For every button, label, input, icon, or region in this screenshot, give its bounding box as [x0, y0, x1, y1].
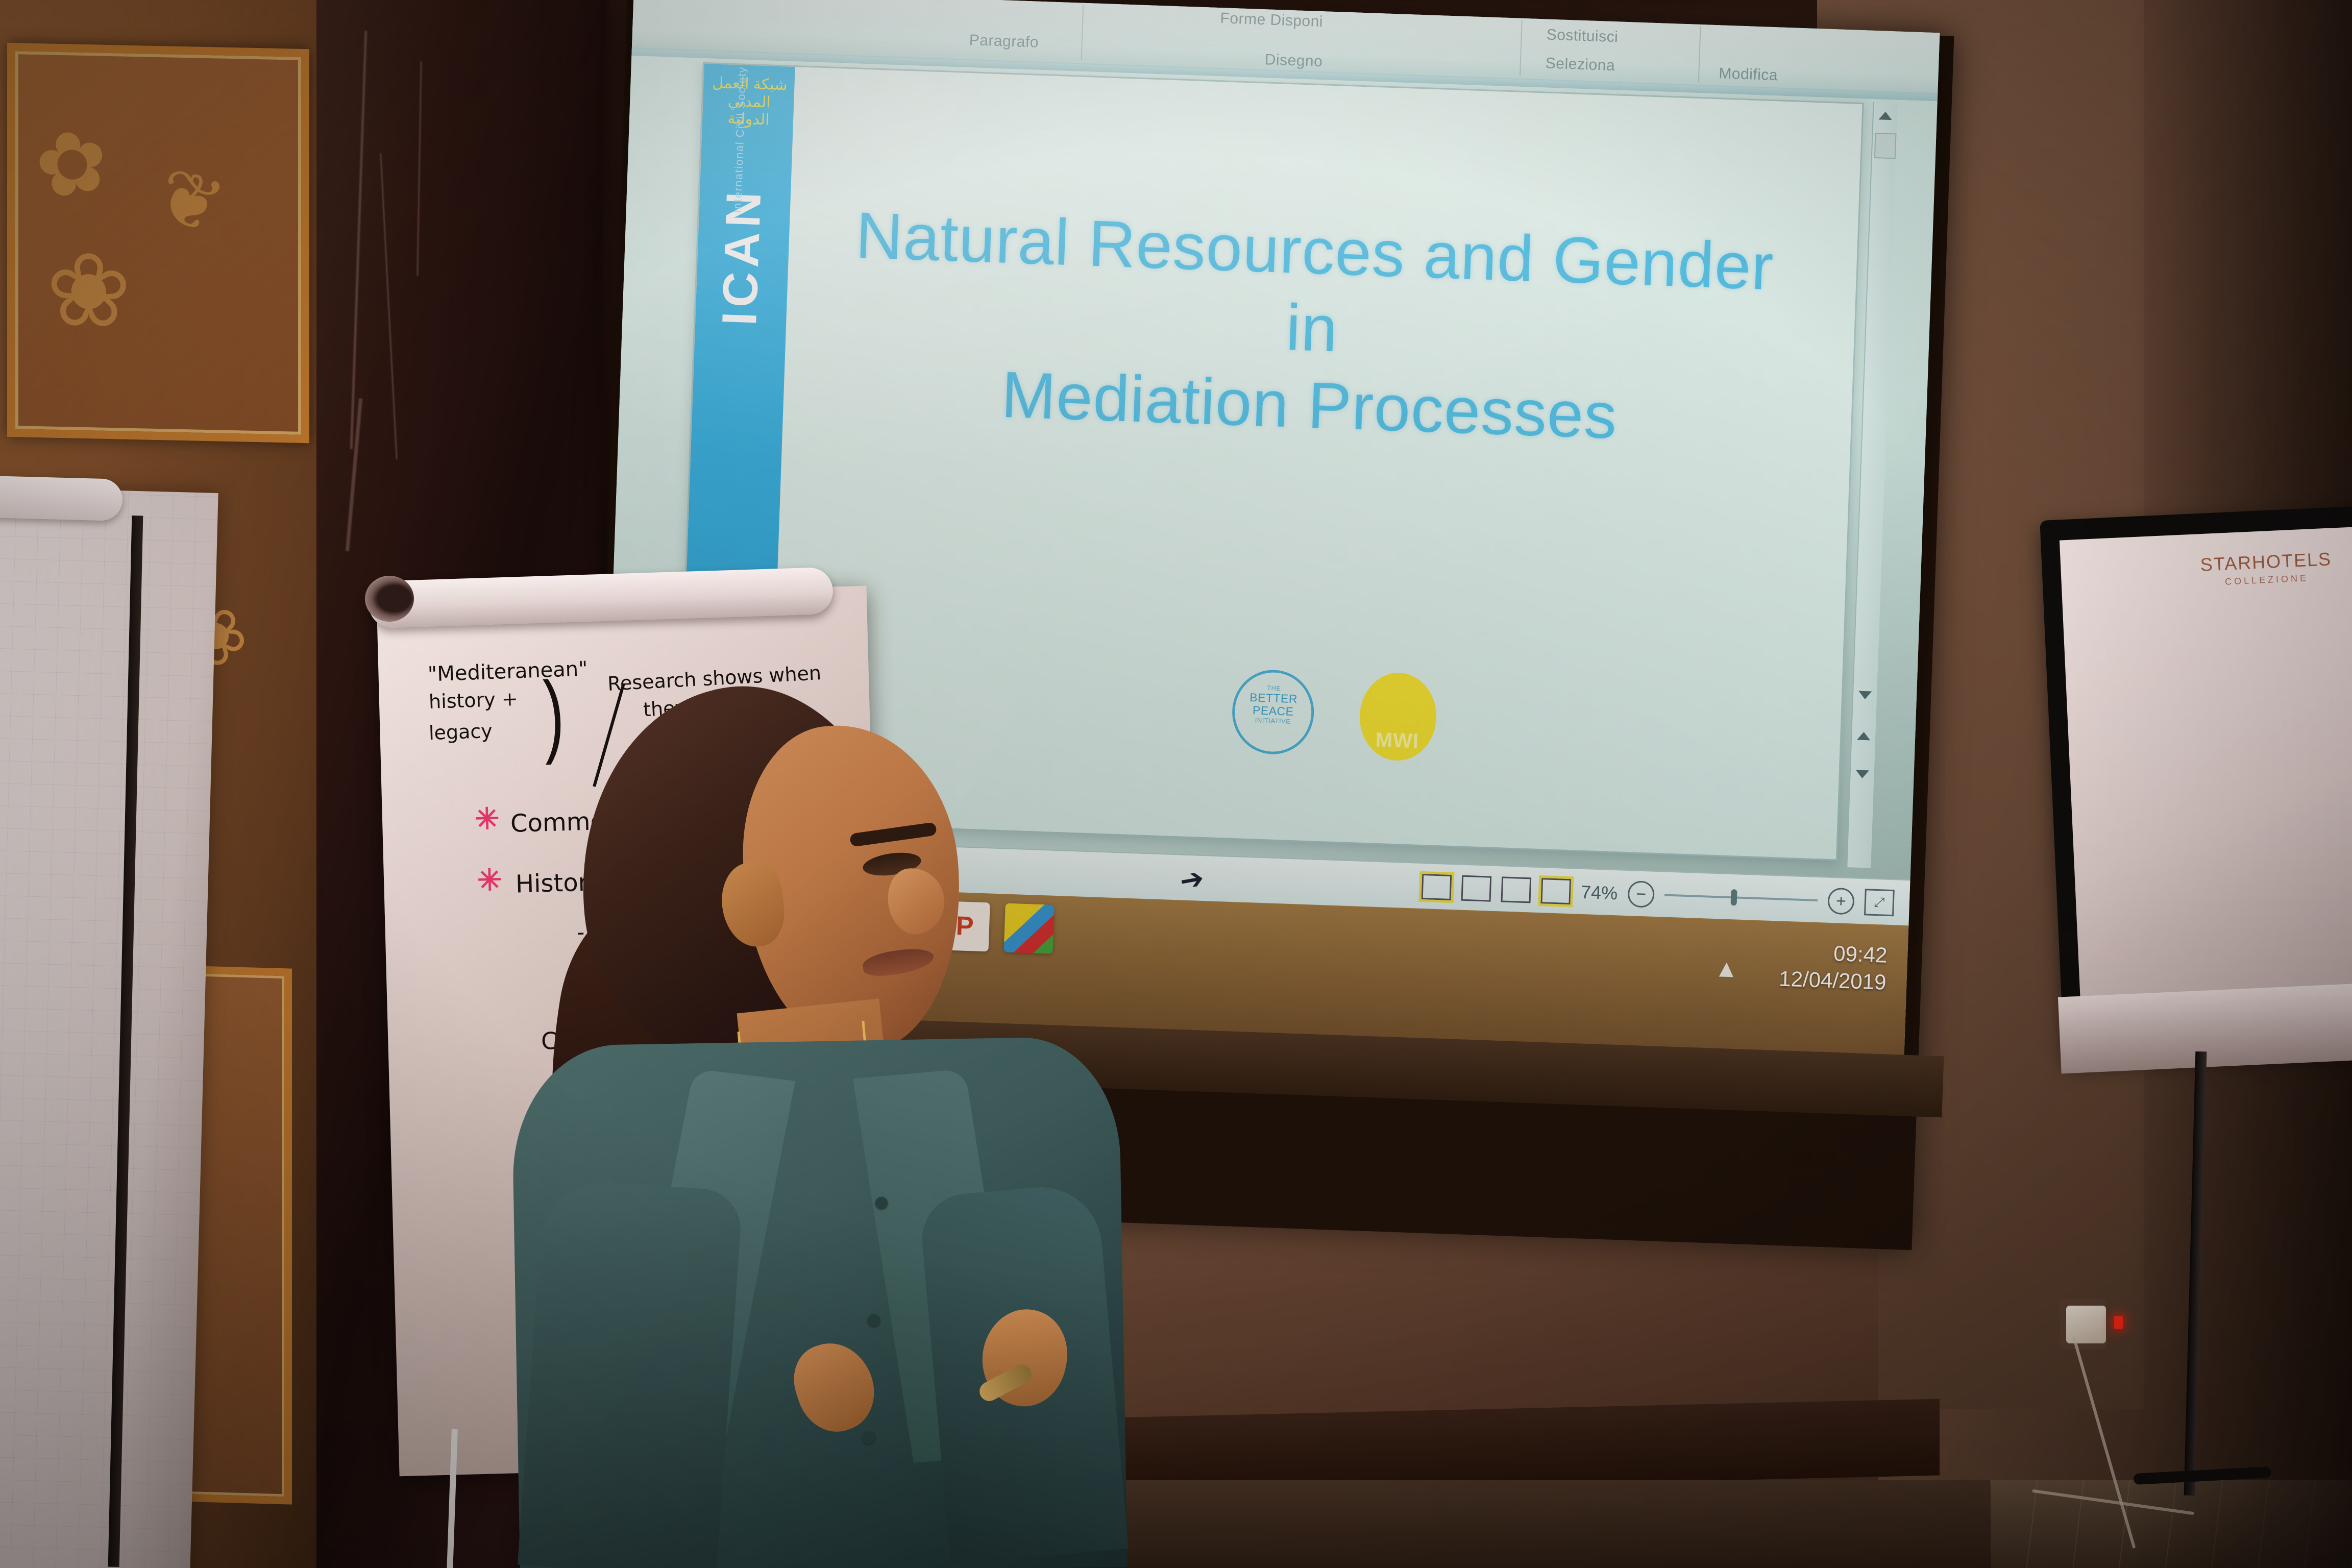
zoom-slider[interactable] [1664, 894, 1818, 901]
flipchart-sub-item-website: - website [597, 964, 695, 991]
flower-basket-ornament-icon: ❀ [46, 230, 132, 351]
fit-slide-to-window-button[interactable]: ⤢ [1864, 889, 1895, 916]
ribbon-group-forme-disponi[interactable]: Forme Disponi [1220, 10, 1324, 31]
ribbon-group-paragrafo[interactable]: Paragrafo [969, 32, 1039, 52]
left-flipchart-rolled-sheet [0, 475, 123, 521]
flipchart-quote-title: "Mediteranean" [427, 656, 588, 688]
flipchart-bullet-2: History of MWI [515, 865, 695, 898]
status-divider [898, 856, 900, 880]
ribbon-divider [1698, 27, 1701, 82]
slide-title-line-2: Mediation Processes [1000, 358, 1619, 453]
slide-logo-row: THE BETTER PEACE INITIATIVE MWI [1231, 665, 1540, 772]
zoom-in-button[interactable]: + [1827, 888, 1855, 915]
mwi-logo: MWI [1358, 672, 1438, 762]
paint-icon[interactable] [1003, 903, 1054, 953]
powerpoint-icon[interactable]: P [940, 901, 990, 951]
view-normal-button[interactable] [1422, 874, 1452, 900]
system-tray-clock[interactable]: 09:42 12/04/2019 [1778, 939, 1888, 996]
next-slide-icon[interactable] [1855, 770, 1869, 778]
scroll-ornament-icon: ❦ [146, 149, 234, 254]
mwi-label: MWI [1375, 729, 1419, 753]
starhotels-logo: STARHOTELS COLLEZIONE [2199, 548, 2334, 589]
ribbon-group-sostituisci[interactable]: Sostituisci [1546, 26, 1619, 46]
flipchart-brace-mark: ) [542, 661, 566, 767]
clock-time: 09:42 [1779, 939, 1888, 969]
scrollbar-thumb[interactable] [1874, 133, 1897, 159]
ribbon-group-modifica[interactable]: Modifica [1719, 65, 1778, 84]
flipchart-research-line-3: we [663, 725, 692, 749]
bpi-line-3: INITIATIVE [1234, 716, 1311, 726]
flipchart-star-bullet-icon: ✳ [477, 862, 502, 897]
zoom-out-button[interactable]: − [1627, 880, 1655, 908]
flipchart-star-bullet-icon: ✳ [474, 801, 500, 836]
ribbon-divider [1081, 5, 1084, 60]
clock-date: 12/04/2019 [1778, 965, 1886, 996]
flipchart-bullet-1: Common message [510, 803, 739, 838]
slide-title-line-1: Natural Resources and Gender in [854, 199, 1775, 366]
right-flipchart-paper [2060, 527, 2352, 999]
power-adapter [2066, 1306, 2106, 1343]
word-icon[interactable]: W [875, 899, 926, 949]
gilded-frame-upper: ✿ ❦ ❀ ✿ ❀ [7, 43, 309, 443]
slide-background: Natural Resources and Gender in Mediatio… [769, 67, 1862, 859]
network-tray-icon[interactable]: ▲ [1714, 954, 1739, 984]
grid-paper-texture [0, 487, 218, 1568]
scroll-up-arrow-icon[interactable] [1878, 111, 1892, 120]
screenshot-root: ✿ ❦ ❀ ✿ ❀ ❀ ✿ Paragrafo Forme Disponi Di… [0, 0, 2352, 1568]
flipchart-sub-item-slides: - slides [576, 918, 652, 945]
scroll-down-arrow-icon[interactable] [1858, 691, 1872, 700]
flipchart-quote-sub-2: legacy [428, 720, 493, 744]
previous-slide-icon[interactable] [1857, 732, 1871, 741]
ribbon-group-seleziona[interactable]: Seleziona [1545, 55, 1615, 75]
leaf-ornament-icon: ✿ [26, 108, 118, 220]
view-slideshow-button[interactable] [1540, 878, 1571, 904]
bpi-line-2: PEACE [1253, 703, 1294, 718]
left-flipchart-paper [0, 487, 218, 1568]
ican-arabic-text: شبكة العمل المدني الدولية [706, 74, 793, 130]
bpi-the-label: THE [1236, 683, 1312, 693]
power-led-indicator [2114, 1316, 2123, 1329]
flipchart-bullet-3: Collecti... [541, 1024, 650, 1055]
zoom-slider-knob[interactable] [1731, 889, 1737, 905]
ribbon-group-disegno[interactable]: Disegno [1264, 51, 1323, 70]
view-reading-button[interactable] [1501, 876, 1531, 903]
zoom-level-label: 74% [1580, 881, 1618, 904]
ican-wordmark: ICAN [712, 197, 772, 327]
slide-title: Natural Resources and Gender in Mediatio… [844, 197, 1780, 460]
flipchart-quote-sub-1: history + [428, 688, 518, 713]
ribbon-divider [1520, 20, 1523, 76]
view-slide-sorter-button[interactable] [1461, 875, 1491, 902]
better-peace-initiative-logo: THE BETTER PEACE INITIATIVE [1231, 669, 1315, 755]
